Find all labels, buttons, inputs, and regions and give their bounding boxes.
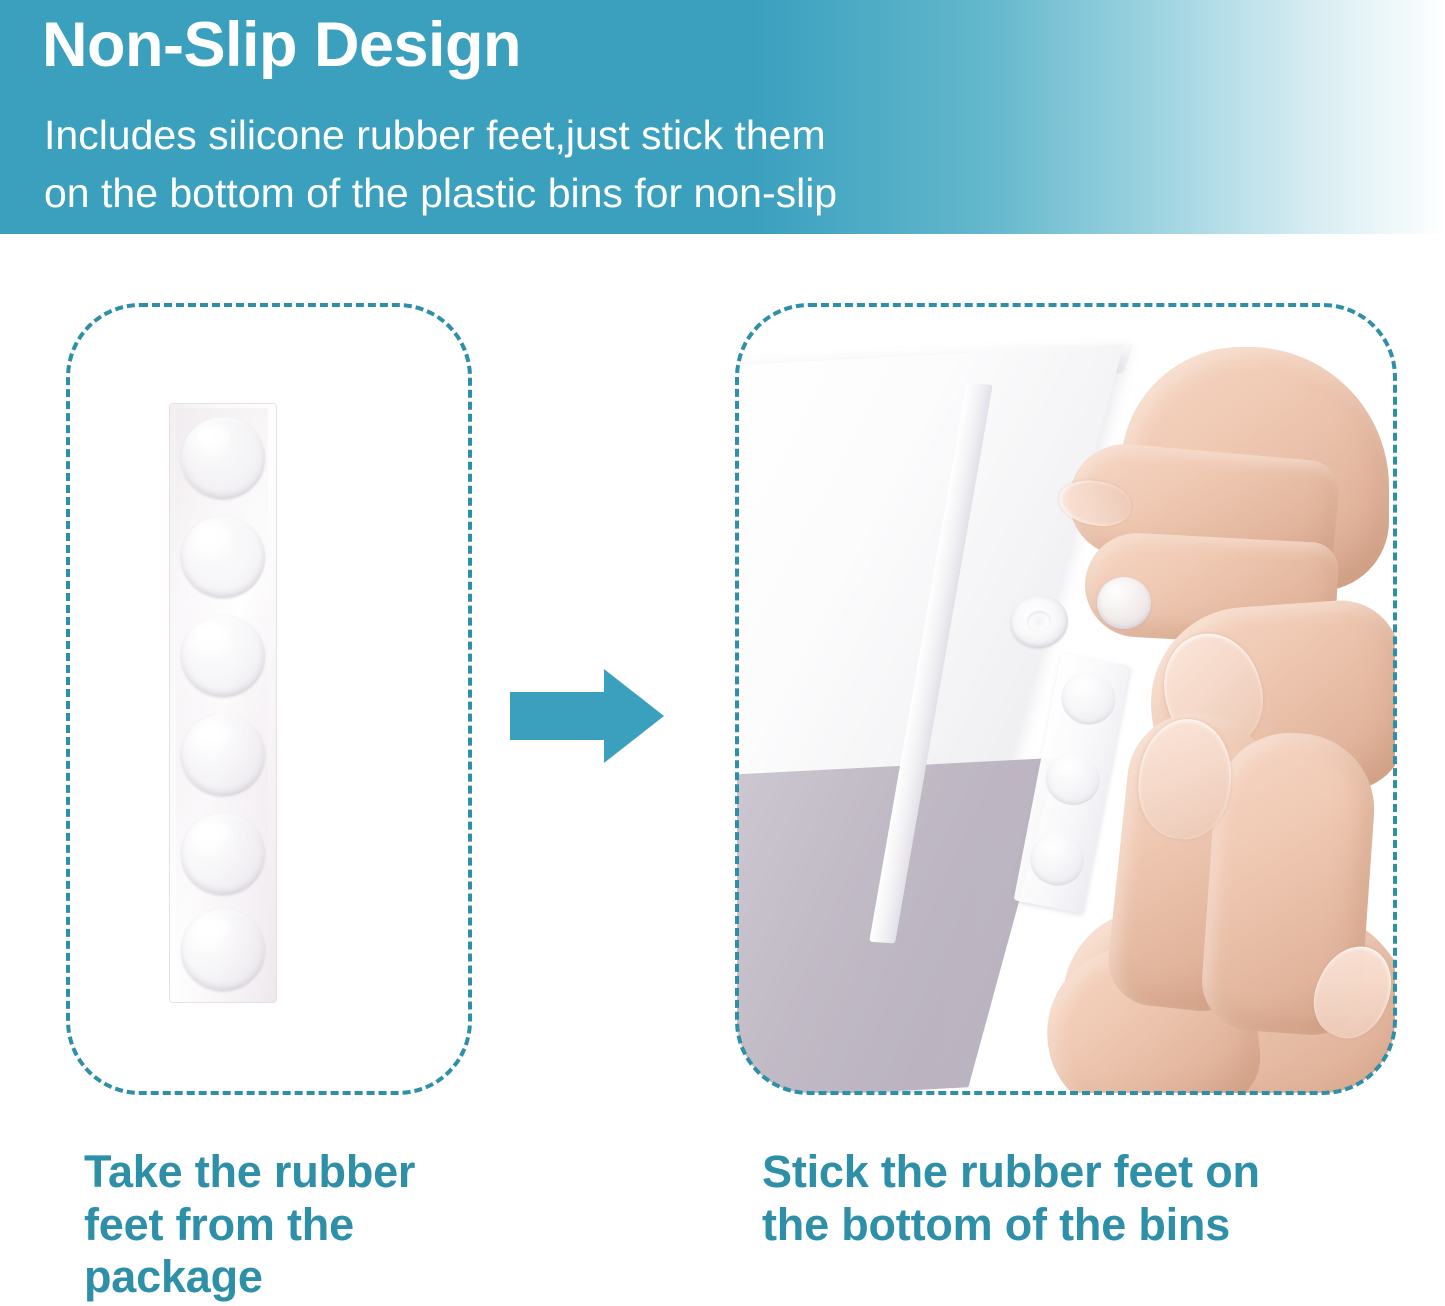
silicone-feet-strip xyxy=(170,404,276,1002)
product-infographic: Non-Slip Design Includes silicone rubber… xyxy=(0,0,1445,1306)
header-subtitle: Includes silicone rubber feet,just stick… xyxy=(44,106,837,222)
caption-line: Take the rubber xyxy=(84,1146,504,1199)
silicone-foot xyxy=(181,516,265,598)
silicone-foot xyxy=(181,615,265,697)
caption-line: package xyxy=(84,1251,504,1304)
step-2-caption: Stick the rubber feet on the bottom of t… xyxy=(762,1146,1402,1251)
caption-line: the bottom of the bins xyxy=(762,1199,1402,1252)
header-subtitle-line-1: Includes silicone rubber feet,just stick… xyxy=(44,106,837,164)
page-title: Non-Slip Design xyxy=(42,12,521,78)
arrow-right-icon xyxy=(508,666,666,766)
step-2-dashed-panel xyxy=(735,303,1397,1095)
caption-line: Stick the rubber feet on xyxy=(762,1146,1402,1199)
header-subtitle-line-2: on the bottom of the plastic bins for no… xyxy=(44,164,837,222)
silicone-foot xyxy=(181,714,265,796)
silicone-foot xyxy=(181,813,265,895)
step-1-caption: Take the rubber feet from the package xyxy=(84,1146,504,1304)
silicone-foot xyxy=(181,909,265,991)
silicone-foot xyxy=(181,417,265,499)
caption-line: feet from the xyxy=(84,1199,504,1252)
header-banner: Non-Slip Design Includes silicone rubber… xyxy=(0,0,1445,234)
